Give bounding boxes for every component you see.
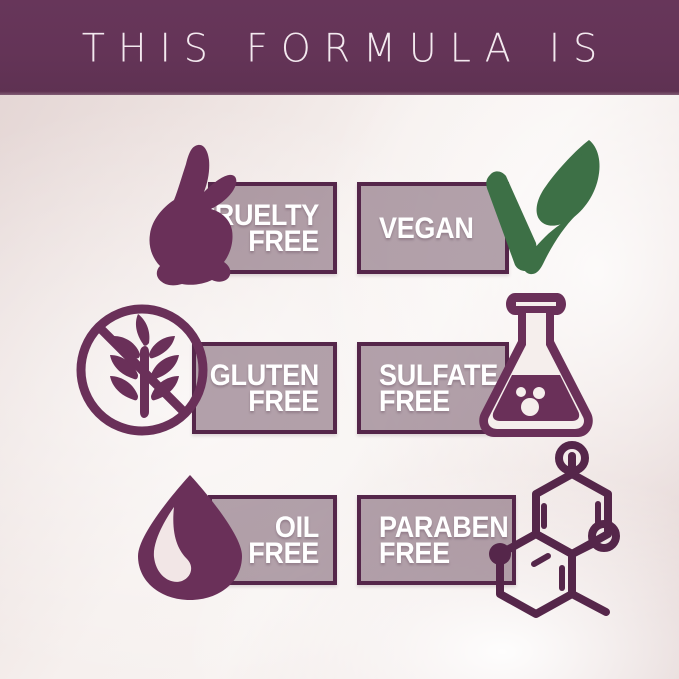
droplet-icon [130, 473, 250, 603]
oil-free-label-line-2: FREE [248, 539, 319, 568]
page-title: THIS FORMULA IS [69, 25, 610, 71]
rabbit-icon [142, 142, 252, 290]
molecule-icon [478, 452, 638, 607]
sulfate-free-label-line-2: FREE [379, 387, 450, 416]
gluten-free-label-line-2: FREE [248, 387, 319, 416]
no-wheat-icon [72, 300, 212, 440]
flask-icon [473, 289, 605, 444]
vegan-label-line-1: VEGAN [379, 213, 474, 242]
gluten-free-label-box: GLUTEN FREE [192, 342, 337, 434]
paraben-free-label-line-2: FREE [379, 539, 450, 568]
poster-header: THIS FORMULA IS [0, 0, 679, 95]
cruelty-free-label-line-2: FREE [248, 227, 319, 256]
leaf-check-icon [478, 135, 608, 285]
product-claims-poster: THIS FORMULA IS CRUELTY FREE VEGAN [0, 0, 679, 679]
